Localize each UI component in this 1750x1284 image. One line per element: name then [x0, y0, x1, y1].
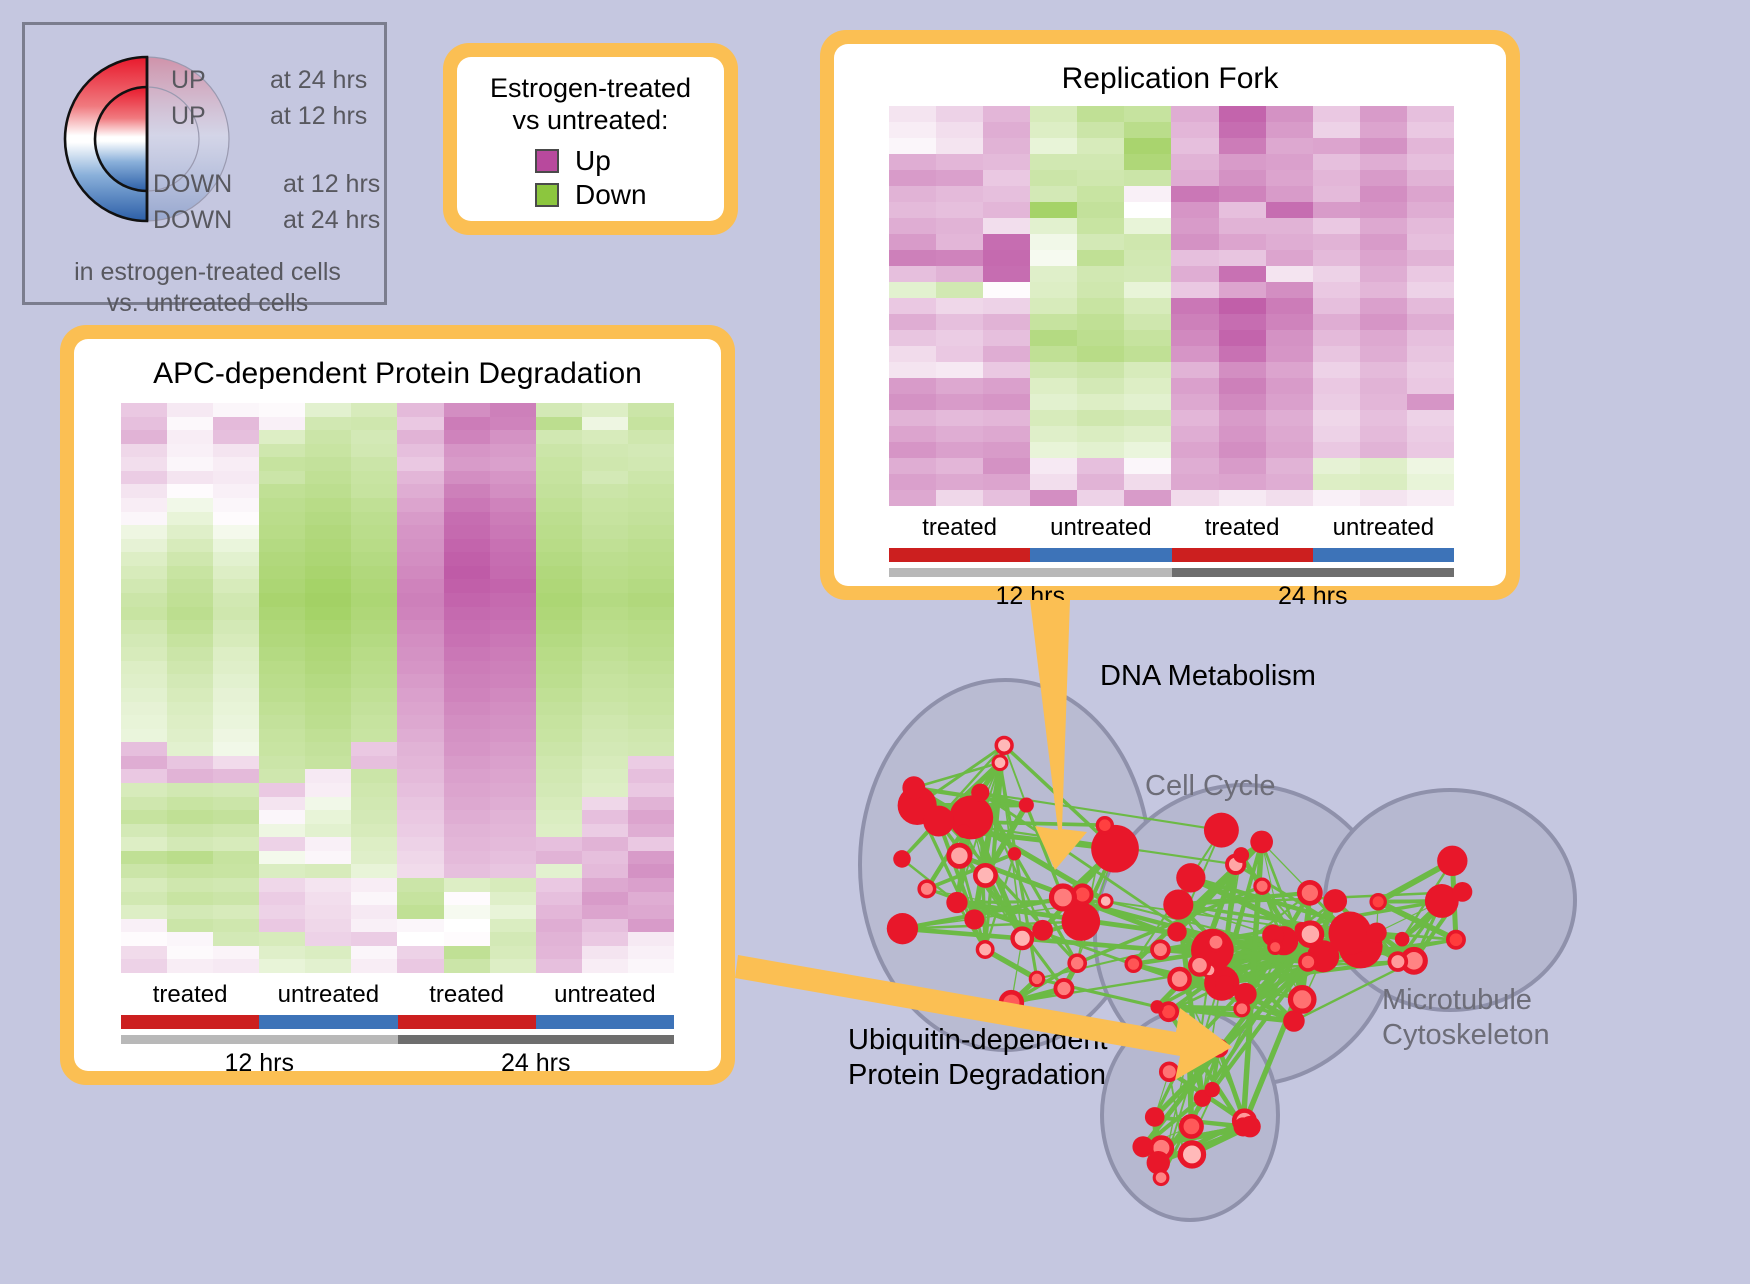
- network-node[interactable]: [975, 865, 995, 885]
- heatmap-cell: [305, 417, 351, 431]
- network-node[interactable]: [1371, 895, 1385, 909]
- heatmap-cell: [213, 484, 259, 498]
- heatmap-cell: [259, 959, 305, 973]
- network-node[interactable]: [1299, 923, 1322, 946]
- heatmap-cell: [628, 430, 674, 444]
- heatmap-cell: [1407, 426, 1454, 442]
- heatmap-cell: [121, 742, 167, 756]
- heatmap-cell: [1030, 314, 1077, 330]
- heatmap-cell: [1171, 218, 1218, 234]
- heatmap-cell: [121, 593, 167, 607]
- heatmap-cell: [444, 647, 490, 661]
- heatmap-cell: [213, 729, 259, 743]
- network-node[interactable]: [1211, 1040, 1227, 1056]
- heatmap-cell: [936, 298, 983, 314]
- network-node[interactable]: [923, 806, 954, 837]
- heatmap-cell: [582, 756, 628, 770]
- network-node[interactable]: [1032, 920, 1053, 941]
- heatmap-cell: [444, 444, 490, 458]
- network-node[interactable]: [977, 942, 992, 957]
- heatmap-cell: [121, 471, 167, 485]
- heatmap-cell: [628, 471, 674, 485]
- heatmap-cell: [167, 892, 213, 906]
- network-node[interactable]: [1255, 879, 1269, 893]
- network-node[interactable]: [1250, 831, 1273, 854]
- heatmap-cell: [1171, 250, 1218, 266]
- heatmap-cell: [444, 471, 490, 485]
- heatmap-cell: [490, 905, 536, 919]
- heatmap-cell: [213, 525, 259, 539]
- network-node[interactable]: [1233, 847, 1249, 863]
- network-node[interactable]: [1235, 1002, 1249, 1016]
- heatmap-cell: [536, 702, 582, 716]
- heatmap-cell: [582, 661, 628, 675]
- heatmap-cell: [121, 702, 167, 716]
- heatmap-cell: [889, 458, 936, 474]
- heatmap-cell: [1313, 122, 1360, 138]
- heatmap-cell: [305, 674, 351, 688]
- heatmap-cell: [259, 471, 305, 485]
- updown-legend-panel: Estrogen-treatedvs untreated: Up Down: [443, 43, 738, 235]
- heatmap-cell: [490, 851, 536, 865]
- heatmap-cell: [444, 579, 490, 593]
- heatmap-cell: [167, 498, 213, 512]
- heatmap-cell: [490, 959, 536, 973]
- network-node[interactable]: [1205, 1082, 1220, 1097]
- heatmap-cell: [1360, 138, 1407, 154]
- heatmap-cell: [397, 905, 443, 919]
- heatmap-cell: [628, 715, 674, 729]
- heatmap-cell: [1266, 330, 1313, 346]
- heatmap-cell: [444, 756, 490, 770]
- heatmap-cell: [1077, 314, 1124, 330]
- key-caption: in estrogen-treated cellsvs. untreated c…: [25, 257, 390, 320]
- heatmap-cell: [167, 797, 213, 811]
- network-node[interactable]: [1013, 929, 1032, 948]
- heatmap-cell: [305, 810, 351, 824]
- network-node[interactable]: [1097, 818, 1112, 833]
- heatmap-cell: [628, 810, 674, 824]
- heatmap-cell: [305, 932, 351, 946]
- replication-fork-heatmap: [889, 106, 1454, 506]
- network-node[interactable]: [1323, 889, 1347, 913]
- network-node[interactable]: [1176, 863, 1205, 892]
- heatmap-cell: [490, 864, 536, 878]
- heatmap-cell: [259, 403, 305, 417]
- heatmap-cell: [582, 905, 628, 919]
- heatmap-cell: [490, 566, 536, 580]
- replication-fork-treatment-bar: [889, 548, 1454, 562]
- heatmap-cell: [983, 234, 1030, 250]
- heatmap-cell: [444, 457, 490, 471]
- network-node[interactable]: [893, 850, 911, 868]
- heatmap-cell: [1219, 378, 1266, 394]
- heatmap-cell: [936, 282, 983, 298]
- heatmap-cell: [1124, 122, 1171, 138]
- heatmap-cell: [536, 783, 582, 797]
- heatmap-cell: [121, 444, 167, 458]
- heatmap-cell: [1266, 426, 1313, 442]
- network-node[interactable]: [1055, 980, 1072, 997]
- heatmap-cell: [167, 647, 213, 661]
- network-node[interactable]: [1290, 988, 1313, 1011]
- network-node[interactable]: [1328, 912, 1371, 955]
- heatmap-cell: [213, 824, 259, 838]
- network-node[interactable]: [1001, 992, 1022, 1013]
- heatmap-cell: [121, 715, 167, 729]
- heatmap-cell: [1171, 410, 1218, 426]
- heatmap-cell: [536, 579, 582, 593]
- heatmap-cell: [259, 878, 305, 892]
- heatmap-cell: [936, 490, 983, 506]
- heatmap-cell: [397, 661, 443, 675]
- network-node[interactable]: [1395, 932, 1410, 947]
- network-node[interactable]: [1190, 956, 1209, 975]
- heatmap-cell: [1124, 410, 1171, 426]
- heatmap-cell: [983, 314, 1030, 330]
- heatmap-cell: [628, 512, 674, 526]
- heatmap-cell: [444, 959, 490, 973]
- heatmap-cell: [213, 417, 259, 431]
- network-node[interactable]: [1452, 882, 1472, 902]
- network-node[interactable]: [1145, 1107, 1165, 1127]
- heatmap-cell: [1030, 362, 1077, 378]
- network-node[interactable]: [1208, 934, 1225, 951]
- heatmap-cell: [1219, 314, 1266, 330]
- legend-item-down: Down: [535, 181, 647, 209]
- heatmap-cell: [1171, 266, 1218, 282]
- heatmap-cell: [121, 769, 167, 783]
- network-node[interactable]: [1215, 975, 1234, 994]
- network-node[interactable]: [949, 796, 993, 840]
- heatmap-cell: [213, 905, 259, 919]
- network-node[interactable]: [1008, 847, 1021, 860]
- heatmap-cell: [490, 946, 536, 960]
- heatmap-cell: [259, 688, 305, 702]
- heatmap-cell: [936, 410, 983, 426]
- heatmap-cell: [213, 919, 259, 933]
- heatmap-cell: [1407, 458, 1454, 474]
- network-node[interactable]: [1180, 1143, 1203, 1166]
- network-node[interactable]: [1366, 922, 1386, 942]
- heatmap-cell: [582, 932, 628, 946]
- key-up-12-label: UP: [171, 103, 206, 129]
- heatmap-cell: [351, 674, 397, 688]
- heatmap-cell: [536, 932, 582, 946]
- legend-panel-inner: Estrogen-treatedvs untreated: Up Down: [457, 57, 724, 221]
- heatmap-cell: [1313, 426, 1360, 442]
- network-node[interactable]: [996, 738, 1012, 754]
- heatmap-cell: [490, 932, 536, 946]
- heatmap-cell: [305, 729, 351, 743]
- heatmap-cell: [305, 797, 351, 811]
- heatmap-cell: [1219, 154, 1266, 170]
- heatmap-cell: [259, 769, 305, 783]
- heatmap-cell: [628, 729, 674, 743]
- heatmap-cell: [444, 824, 490, 838]
- network-node[interactable]: [919, 881, 935, 897]
- heatmap-cell: [121, 417, 167, 431]
- network-node[interactable]: [971, 784, 989, 802]
- heatmap-cell: [582, 783, 628, 797]
- network-node[interactable]: [964, 909, 984, 929]
- heatmap-cell: [1124, 266, 1171, 282]
- heatmap-cell: [936, 426, 983, 442]
- network-svg: [790, 615, 1740, 1279]
- heatmap-cell: [889, 362, 936, 378]
- heatmap-cell: [628, 525, 674, 539]
- network-node[interactable]: [1178, 1035, 1200, 1057]
- heatmap-cell: [490, 457, 536, 471]
- network-node[interactable]: [1069, 955, 1085, 971]
- network-node[interactable]: [1181, 1116, 1201, 1136]
- heatmap-cell: [490, 552, 536, 566]
- heatmap-cell: [1219, 346, 1266, 362]
- heatmap-cell: [628, 892, 674, 906]
- heatmap-cell: [167, 824, 213, 838]
- network-node[interactable]: [1299, 882, 1320, 903]
- heatmap-cell: [1266, 362, 1313, 378]
- heatmap-cell: [628, 539, 674, 553]
- network-node[interactable]: [1389, 953, 1406, 970]
- heatmap-cell: [628, 661, 674, 675]
- heatmap-cell: [628, 769, 674, 783]
- heatmap-cell: [213, 797, 259, 811]
- heatmap-cell: [1030, 186, 1077, 202]
- heatmap-cell: [1313, 314, 1360, 330]
- heatmap-cell: [1171, 442, 1218, 458]
- heatmap-cell: [351, 932, 397, 946]
- network-node[interactable]: [1239, 1116, 1260, 1137]
- heatmap-cell: [536, 403, 582, 417]
- heatmap-cell: [397, 512, 443, 526]
- heatmap-cell: [259, 430, 305, 444]
- heatmap-cell: [1407, 282, 1454, 298]
- heatmap-cell: [536, 512, 582, 526]
- network-node[interactable]: [993, 756, 1007, 770]
- heatmap-cell: [305, 444, 351, 458]
- heatmap-cell: [536, 417, 582, 431]
- heatmap-cell: [536, 498, 582, 512]
- heatmap-cell: [582, 634, 628, 648]
- time-bar-segment: [1172, 568, 1455, 577]
- heatmap-cell: [1077, 186, 1124, 202]
- heatmap-cell: [444, 512, 490, 526]
- heatmap-cell: [213, 579, 259, 593]
- heatmap-cell: [1171, 202, 1218, 218]
- heatmap-cell: [305, 552, 351, 566]
- heatmap-cell: [259, 742, 305, 756]
- network-node[interactable]: [1161, 1063, 1178, 1080]
- heatmap-cell: [1360, 394, 1407, 410]
- heatmap-cell: [121, 932, 167, 946]
- heatmap-cell: [351, 729, 397, 743]
- heatmap-cell: [121, 851, 167, 865]
- network-node[interactable]: [887, 913, 918, 944]
- heatmap-cell: [167, 403, 213, 417]
- heatmap-cell: [628, 824, 674, 838]
- heatmap-cell: [936, 378, 983, 394]
- heatmap-cell: [1077, 362, 1124, 378]
- heatmap-cell: [121, 457, 167, 471]
- heatmap-cell: [305, 905, 351, 919]
- heatmap-cell: [121, 810, 167, 824]
- heatmap-cell: [259, 674, 305, 688]
- heatmap-cell: [1077, 282, 1124, 298]
- heatmap-cell: [305, 593, 351, 607]
- heatmap-cell: [213, 552, 259, 566]
- heatmap-cell: [983, 426, 1030, 442]
- heatmap-cell: [1124, 330, 1171, 346]
- heatmap-cell: [983, 458, 1030, 474]
- network-node[interactable]: [1126, 957, 1141, 972]
- heatmap-cell: [582, 715, 628, 729]
- heatmap-cell: [1360, 410, 1407, 426]
- heatmap-cell: [259, 552, 305, 566]
- heatmap-cell: [397, 498, 443, 512]
- heatmap-cell: [1219, 106, 1266, 122]
- heatmap-cell: [121, 892, 167, 906]
- heatmap-cell: [1266, 282, 1313, 298]
- heatmap-cell: [628, 837, 674, 851]
- heatmap-cell: [536, 946, 582, 960]
- heatmap-cell: [444, 878, 490, 892]
- heatmap-cell: [167, 525, 213, 539]
- heatmap-cell: [1124, 394, 1171, 410]
- heatmap-cell: [490, 878, 536, 892]
- heatmap-cell: [397, 837, 443, 851]
- heatmap-cell: [351, 959, 397, 973]
- treatment-bar-segment: [259, 1015, 397, 1029]
- heatmap-cell: [628, 457, 674, 471]
- network-node[interactable]: [1300, 954, 1316, 970]
- heatmap-cell: [444, 729, 490, 743]
- heatmap-cell: [1171, 474, 1218, 490]
- heatmap-cell: [1313, 330, 1360, 346]
- network-node[interactable]: [1099, 895, 1112, 908]
- heatmap-cell: [1077, 346, 1124, 362]
- network-node[interactable]: [1437, 846, 1467, 876]
- heatmap-cell: [536, 864, 582, 878]
- apc-panel-inner: APC-dependent Protein Degradation treate…: [74, 339, 721, 1071]
- heatmap-cell: [351, 783, 397, 797]
- network-node[interactable]: [1170, 969, 1190, 989]
- heatmap-cell: [1030, 474, 1077, 490]
- heatmap-cell: [351, 620, 397, 634]
- heatmap-cell: [983, 346, 1030, 362]
- heatmap-cell: [444, 403, 490, 417]
- heatmap-cell: [259, 484, 305, 498]
- network-node[interactable]: [1152, 941, 1169, 958]
- heatmap-cell: [1219, 474, 1266, 490]
- heatmap-cell: [1171, 362, 1218, 378]
- legend-label-down: Down: [575, 181, 647, 209]
- heatmap-cell: [582, 647, 628, 661]
- heatmap-cell: [1030, 426, 1077, 442]
- heatmap-cell: [536, 539, 582, 553]
- heatmap-cell: [628, 607, 674, 621]
- heatmap-cell: [983, 490, 1030, 506]
- network-node[interactable]: [1019, 797, 1034, 812]
- heatmap-cell: [351, 512, 397, 526]
- heatmap-cell: [444, 702, 490, 716]
- heatmap-cell: [213, 851, 259, 865]
- network-node[interactable]: [1030, 972, 1043, 985]
- heatmap-cell: [490, 715, 536, 729]
- column-group-label: treated: [889, 514, 1030, 542]
- heatmap-cell: [351, 702, 397, 716]
- heatmap-cell: [351, 756, 397, 770]
- heatmap-cell: [397, 797, 443, 811]
- heatmap-cell: [305, 471, 351, 485]
- network-node[interactable]: [1163, 890, 1193, 920]
- heatmap-cell: [582, 851, 628, 865]
- heatmap-cell: [1360, 234, 1407, 250]
- heatmap-cell: [490, 661, 536, 675]
- heatmap-cell: [259, 661, 305, 675]
- heatmap-cell: [259, 620, 305, 634]
- network-node[interactable]: [1204, 813, 1239, 848]
- apc-treatment-bar: [121, 1015, 674, 1029]
- heatmap-cell: [490, 444, 536, 458]
- cluster-label-dna-metabolism: DNA Metabolism: [1100, 660, 1316, 693]
- network-node[interactable]: [1167, 922, 1186, 941]
- heatmap-cell: [1407, 490, 1454, 506]
- column-group-label: treated: [121, 981, 259, 1009]
- heatmap-cell: [397, 457, 443, 471]
- heatmap-cell: [305, 715, 351, 729]
- network-node[interactable]: [1269, 941, 1282, 954]
- heatmap-cell: [1360, 442, 1407, 458]
- network-node[interactable]: [957, 824, 971, 838]
- network-node[interactable]: [1150, 1000, 1163, 1013]
- network-node[interactable]: [946, 892, 967, 913]
- heatmap-cell: [490, 484, 536, 498]
- key-at-24-inner: at 24 hrs: [283, 207, 380, 233]
- heatmap-cell: [1219, 330, 1266, 346]
- network-node[interactable]: [1154, 1171, 1168, 1185]
- heatmap-cell: [121, 430, 167, 444]
- heatmap-cell: [1407, 330, 1454, 346]
- column-group-label: untreated: [1313, 514, 1454, 542]
- heatmap-cell: [628, 851, 674, 865]
- heatmap-cell: [1407, 362, 1454, 378]
- heatmap-cell: [167, 715, 213, 729]
- heatmap-cell: [1266, 314, 1313, 330]
- heatmap-cell: [121, 647, 167, 661]
- heatmap-cell: [213, 566, 259, 580]
- heatmap-cell: [536, 810, 582, 824]
- heatmap-cell: [1030, 330, 1077, 346]
- heatmap-cell: [1030, 282, 1077, 298]
- heatmap-cell: [889, 266, 936, 282]
- network-node[interactable]: [1091, 825, 1139, 873]
- heatmap-cell: [305, 539, 351, 553]
- heatmap-cell: [305, 946, 351, 960]
- network-node[interactable]: [902, 776, 925, 799]
- heatmap-cell: [1124, 138, 1171, 154]
- column-group-label: untreated: [259, 981, 397, 1009]
- network-node[interactable]: [1051, 886, 1074, 909]
- heatmap-cell: [490, 702, 536, 716]
- heatmap-cell: [444, 892, 490, 906]
- network-node[interactable]: [1448, 932, 1464, 948]
- heatmap-cell: [889, 250, 936, 266]
- heatmap-cell: [582, 674, 628, 688]
- network-node[interactable]: [949, 845, 970, 866]
- heatmap-cell: [444, 810, 490, 824]
- heatmap-cell: [167, 457, 213, 471]
